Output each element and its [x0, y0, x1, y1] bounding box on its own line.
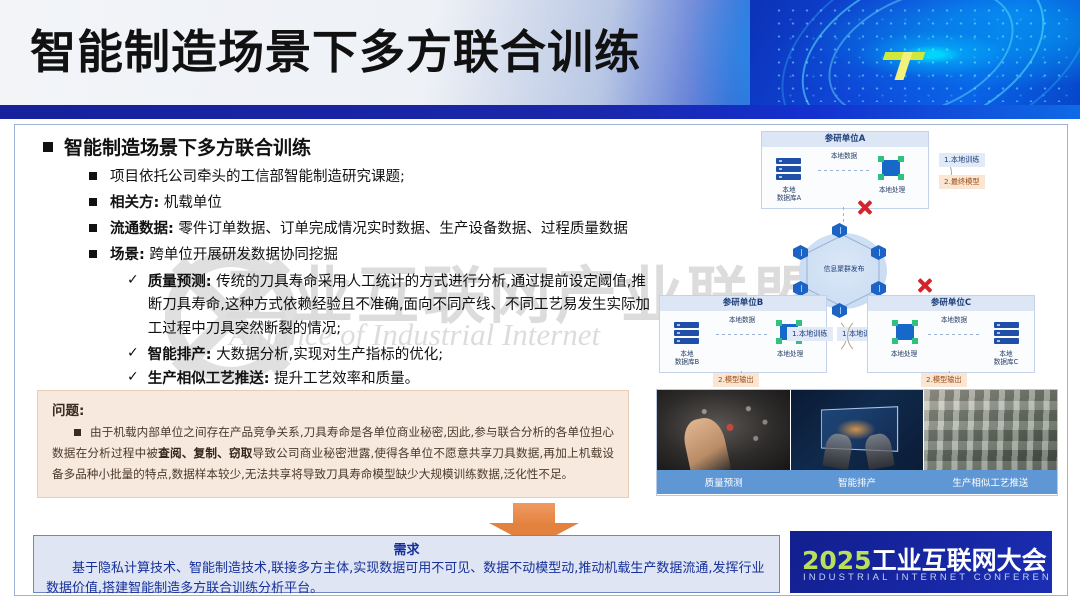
photo-caption-2: 生产相似工艺推送	[924, 470, 1057, 494]
check-label: 智能排产: 大数据分析,实现对生产指标的优化;	[148, 344, 443, 367]
check-rest: 提升工艺效率和质量。	[270, 371, 420, 387]
network-node	[871, 245, 886, 260]
bullet-rest: 机载单位	[159, 195, 222, 211]
bullet-item-2: 流通数据: 零件订单数据、订单完成情况实时数据、生产设备数据、过程质量数据	[89, 219, 628, 240]
bullet-rest: 跨单位开展研发数据协同挖掘	[145, 247, 338, 263]
check-item-2: ✓ 生产相似工艺推送: 提升工艺效率和质量。	[127, 368, 657, 391]
square-bullet-icon	[89, 198, 97, 206]
unit-c-title: 参研单位C	[868, 296, 1034, 311]
check-icon: ✓	[127, 345, 139, 361]
check-strong: 质量预测:	[148, 274, 212, 290]
bullet-rest: 零件订单数据、订单完成情况实时数据、生产设备数据、过程质量数据	[174, 221, 628, 237]
unit-a-db-label: 本地数据库A	[766, 186, 812, 202]
problem-box: 问题: 由于机载内部单位之间存在产品竞争关系,刀具寿命是各单位商业秘密,因此,参…	[37, 390, 629, 498]
database-icon	[776, 158, 801, 180]
unit-a-box: 参研单位A 本地数据库A 本地数据 本地处理	[761, 131, 929, 209]
network-node	[832, 223, 847, 238]
bullet-item-1: 相关方: 机载单位	[89, 193, 222, 214]
check-rest: 大数据分析,实现对生产指标的优化;	[212, 347, 444, 363]
processing-icon	[892, 320, 918, 344]
bullet-item-0: 项目依托公司牵头的工信部智能制造研究课题;	[89, 167, 405, 188]
problem-body: 由于机载内部单位之间存在产品竞争关系,刀具寿命是各单位商业秘密,因此,参与联合分…	[52, 422, 614, 485]
page-title: 智能制造场景下多方联合训练	[30, 16, 641, 82]
conference-year: 2025	[802, 546, 872, 575]
t-logo-icon	[884, 48, 928, 82]
needs-body: 基于隐私计算技术、智能制造技术,联接多方主体,实现数据可用不可见、数据不动模型动…	[34, 558, 779, 598]
network-node	[793, 281, 808, 296]
photo-caption-0: 质量预测	[657, 470, 790, 494]
unit-a-tag-1: 1.本地训练	[939, 153, 985, 167]
bullet-item-3: 场景: 跨单位开展研发数据协同挖掘	[89, 245, 338, 266]
unit-b-title: 参研单位B	[660, 296, 826, 311]
problem-emphasis: 查阅、复制、窃取	[158, 446, 252, 460]
square-bullet-icon	[74, 429, 81, 436]
unit-a-tag-2: 2.最终模型	[939, 175, 985, 189]
unit-c-curve	[847, 317, 885, 355]
center-label: 信息聚群发布	[813, 263, 875, 273]
bullet-strong: 场景:	[110, 247, 145, 263]
bullet-strong: 流通数据:	[110, 221, 174, 237]
check-label: 生产相似工艺推送: 提升工艺效率和质量。	[148, 368, 419, 391]
check-icon: ✓	[127, 369, 139, 385]
check-item-0: ✓ 质量预测: 传统的刀具寿命采用人工统计的方式进行分析,通过提前设定阈值,推断…	[127, 271, 657, 341]
architecture-diagram: 参研单位A 本地数据库A 本地数据 本地处理 1.本地训练 2.最终模型	[655, 127, 1065, 385]
unit-a-proc-label: 本地处理	[864, 186, 920, 194]
red-x-icon	[855, 197, 875, 217]
photo-smart-scheduling	[791, 390, 925, 470]
header-accent-bar	[0, 105, 1080, 119]
conference-logo: 2025工业互联网大会 INDUSTRIAL INTERNET CONFEREN…	[790, 531, 1052, 593]
unit-a-data-label: 本地数据	[814, 152, 874, 160]
slide-root: 智能制造场景下多方联合训练 工业互联网产业联盟 Alliance of Indu…	[0, 0, 1080, 608]
unit-b-data-label: 本地数据	[712, 316, 772, 324]
bullet-label: 流通数据: 零件订单数据、订单完成情况实时数据、生产设备数据、过程质量数据	[110, 219, 628, 240]
square-bullet-icon	[89, 224, 97, 232]
bullet-label: 场景: 跨单位开展研发数据协同挖掘	[110, 245, 338, 266]
unit-c-tag-2: 2.模型输出	[921, 373, 967, 387]
check-rest: 传统的刀具寿命采用人工统计的方式进行分析,通过提前设定阈值,推断刀具寿命,这种方…	[148, 274, 650, 337]
database-icon	[674, 322, 699, 344]
network-node	[832, 303, 847, 318]
square-bullet-icon	[89, 172, 97, 180]
unit-c-box: 参研单位C 本地处理 本地数据 本地数据库C	[867, 295, 1035, 373]
slide-header: 智能制造场景下多方联合训练	[0, 0, 1080, 105]
needs-title: 需求	[34, 539, 779, 558]
check-strong: 智能排产:	[148, 347, 212, 363]
photo-row	[657, 390, 1057, 470]
problem-title: 问题:	[52, 399, 84, 419]
conference-name-en: INDUSTRIAL INTERNET CONFERENCE	[803, 572, 1052, 583]
conference-name-cn: 工业互联网大会	[872, 546, 1047, 575]
unit-b-db-label: 本地数据库B	[664, 350, 710, 366]
bullet-label: 相关方: 机载单位	[110, 193, 222, 214]
needs-box: 需求 基于隐私计算技术、智能制造技术,联接多方主体,实现数据可用不可见、数据不动…	[33, 535, 780, 593]
network-node	[871, 281, 886, 296]
photo-strip: 质量预测 智能排产 生产相似工艺推送	[656, 389, 1058, 496]
database-icon	[994, 322, 1019, 344]
unit-a-title: 参研单位A	[762, 132, 928, 147]
square-bullet-icon	[43, 142, 53, 152]
photo-caption-1: 智能排产	[790, 470, 923, 494]
photo-process-push	[924, 390, 1057, 470]
unit-c-tag-1: 1.本地训练	[787, 327, 833, 341]
unit-c-proc-label: 本地处理	[876, 350, 932, 358]
network-node	[793, 245, 808, 260]
photo-captions: 质量预测 智能排产 生产相似工艺推送	[657, 470, 1057, 494]
bullet-label: 项目依托公司牵头的工信部智能制造研究课题;	[110, 167, 405, 188]
section-heading-label: 智能制造场景下多方联合训练	[64, 133, 311, 160]
section-heading: 智能制造场景下多方联合训练	[43, 133, 311, 160]
check-icon: ✓	[127, 272, 139, 288]
content-frame: 工业互联网产业联盟 Alliance of Industrial Interne…	[14, 124, 1068, 596]
unit-b-tag-2: 2.模型输出	[713, 373, 759, 387]
processing-icon	[878, 156, 904, 180]
check-strong: 生产相似工艺推送:	[148, 371, 270, 387]
red-x-icon	[915, 275, 935, 295]
check-item-1: ✓ 智能排产: 大数据分析,实现对生产指标的优化;	[127, 344, 657, 367]
check-label: 质量预测: 传统的刀具寿命采用人工统计的方式进行分析,通过提前设定阈值,推断刀具…	[148, 271, 657, 341]
unit-c-data-label: 本地数据	[924, 316, 984, 324]
unit-b-proc-label: 本地处理	[762, 350, 818, 358]
photo-quality-prediction	[657, 390, 791, 470]
unit-c-db-label: 本地数据库C	[982, 350, 1030, 366]
square-bullet-icon	[89, 250, 97, 258]
content-body: 智能制造场景下多方联合训练 项目依托公司牵头的工信部智能制造研究课题; 相关方:…	[15, 125, 1067, 595]
bullet-strong: 相关方:	[110, 195, 159, 211]
